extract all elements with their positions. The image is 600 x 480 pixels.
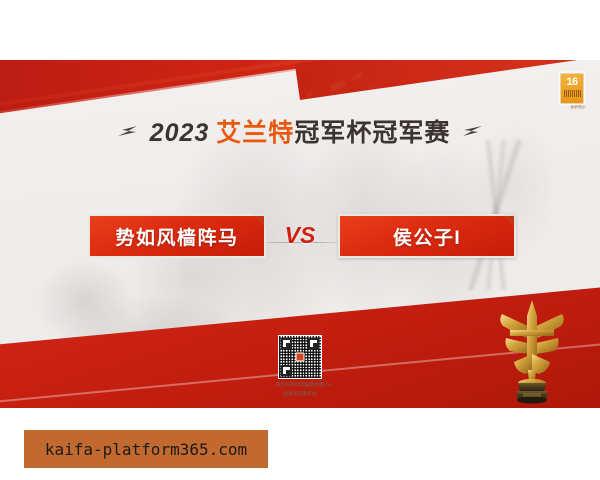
red-shard-1 bbox=[329, 79, 346, 92]
title-rest: 冠军杯冠军赛 bbox=[294, 119, 450, 147]
qr-code-icon[interactable] bbox=[278, 335, 322, 379]
red-shard-3 bbox=[306, 91, 314, 97]
red-diagonal-band-right bbox=[273, 60, 600, 100]
url-banner[interactable]: kaifa-platform365.com bbox=[24, 430, 268, 468]
qr-caption-line-1: 微信扫码添加猫嘤觉醒小A bbox=[276, 382, 324, 388]
age-rating-barcode-strip bbox=[564, 90, 581, 97]
tournament-poster: 16 适龄提示 2023艾兰特冠军杯冠军赛 势如风樯阵马 bbox=[0, 60, 600, 408]
qr-finder-bottom-left bbox=[281, 365, 292, 376]
matchup-row: 势如风樯阵马 侯公子I VS bbox=[0, 208, 600, 272]
vs-label: VS bbox=[0, 222, 600, 249]
title-brand: 艾兰特 bbox=[216, 119, 294, 147]
age-rating-caption: 适龄提示 bbox=[570, 105, 586, 110]
qr-finder-top-right bbox=[308, 338, 319, 349]
qr-code-block: 微信扫码添加猫嘤觉醒小A 观赛竞猜赢奖励 bbox=[276, 335, 324, 397]
red-streak-line-2 bbox=[0, 60, 425, 119]
chevron-left-arrow-icon bbox=[116, 125, 138, 137]
red-shard-2 bbox=[351, 72, 363, 82]
age-rating-number: 16 bbox=[566, 77, 577, 88]
red-diagonal-band bbox=[0, 60, 600, 120]
qr-finder-top-left bbox=[281, 338, 292, 349]
red-shard-4 bbox=[368, 85, 375, 91]
title-year: 2023 bbox=[150, 119, 210, 147]
qr-center-logo bbox=[296, 353, 305, 362]
age-rating-badge: 16 bbox=[560, 73, 584, 104]
trophy-icon bbox=[486, 294, 578, 404]
qr-caption-line-2: 观赛竞猜赢奖励 bbox=[276, 391, 324, 397]
chevron-right-arrow-icon bbox=[462, 125, 484, 137]
red-streak-line-1 bbox=[0, 60, 515, 112]
poster-screenshot: 16 适龄提示 2023艾兰特冠军杯冠军赛 势如风樯阵马 bbox=[0, 0, 600, 480]
poster-title-text: 2023艾兰特冠军杯冠军赛 bbox=[150, 113, 451, 149]
url-text: kaifa-platform365.com bbox=[45, 440, 247, 459]
poster-title: 2023艾兰特冠军杯冠军赛 bbox=[0, 112, 600, 150]
